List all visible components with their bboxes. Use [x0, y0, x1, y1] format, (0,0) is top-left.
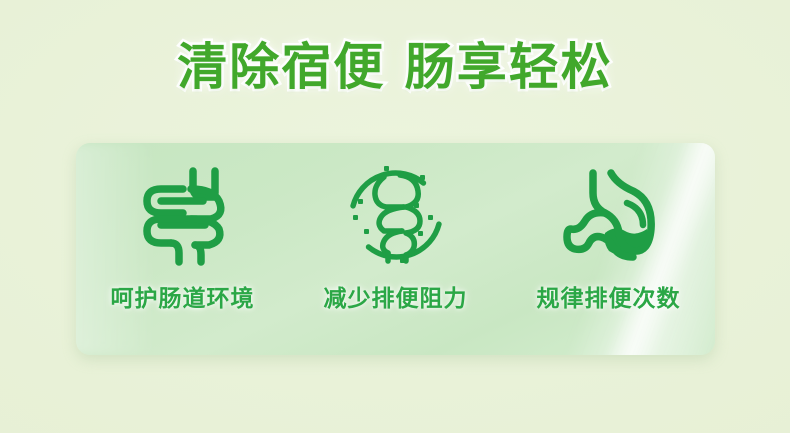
intestine-icon [131, 163, 235, 267]
page-title-wrap: 清除宿便 肠享轻松 [0, 42, 790, 92]
feature-list: 呵护肠道环境 [76, 143, 715, 355]
page-title: 清除宿便 肠享轻松 [177, 42, 612, 92]
features-card: 呵护肠道环境 [76, 143, 715, 355]
intestine-in-circle-icon [344, 163, 448, 267]
feature-item-regularity[interactable]: 规律排便次数 [502, 143, 715, 355]
feature-label: 呵护肠道环境 [111, 279, 255, 313]
feature-item-resistance[interactable]: 减少排便阻力 [289, 143, 502, 355]
feature-item-intestine[interactable]: 呵护肠道环境 [76, 143, 289, 355]
stomach-icon [557, 163, 661, 267]
promo-poster: 清除宿便 肠享轻松 [0, 0, 790, 433]
feature-label: 减少排便阻力 [324, 279, 468, 313]
feature-label: 规律排便次数 [537, 279, 681, 313]
